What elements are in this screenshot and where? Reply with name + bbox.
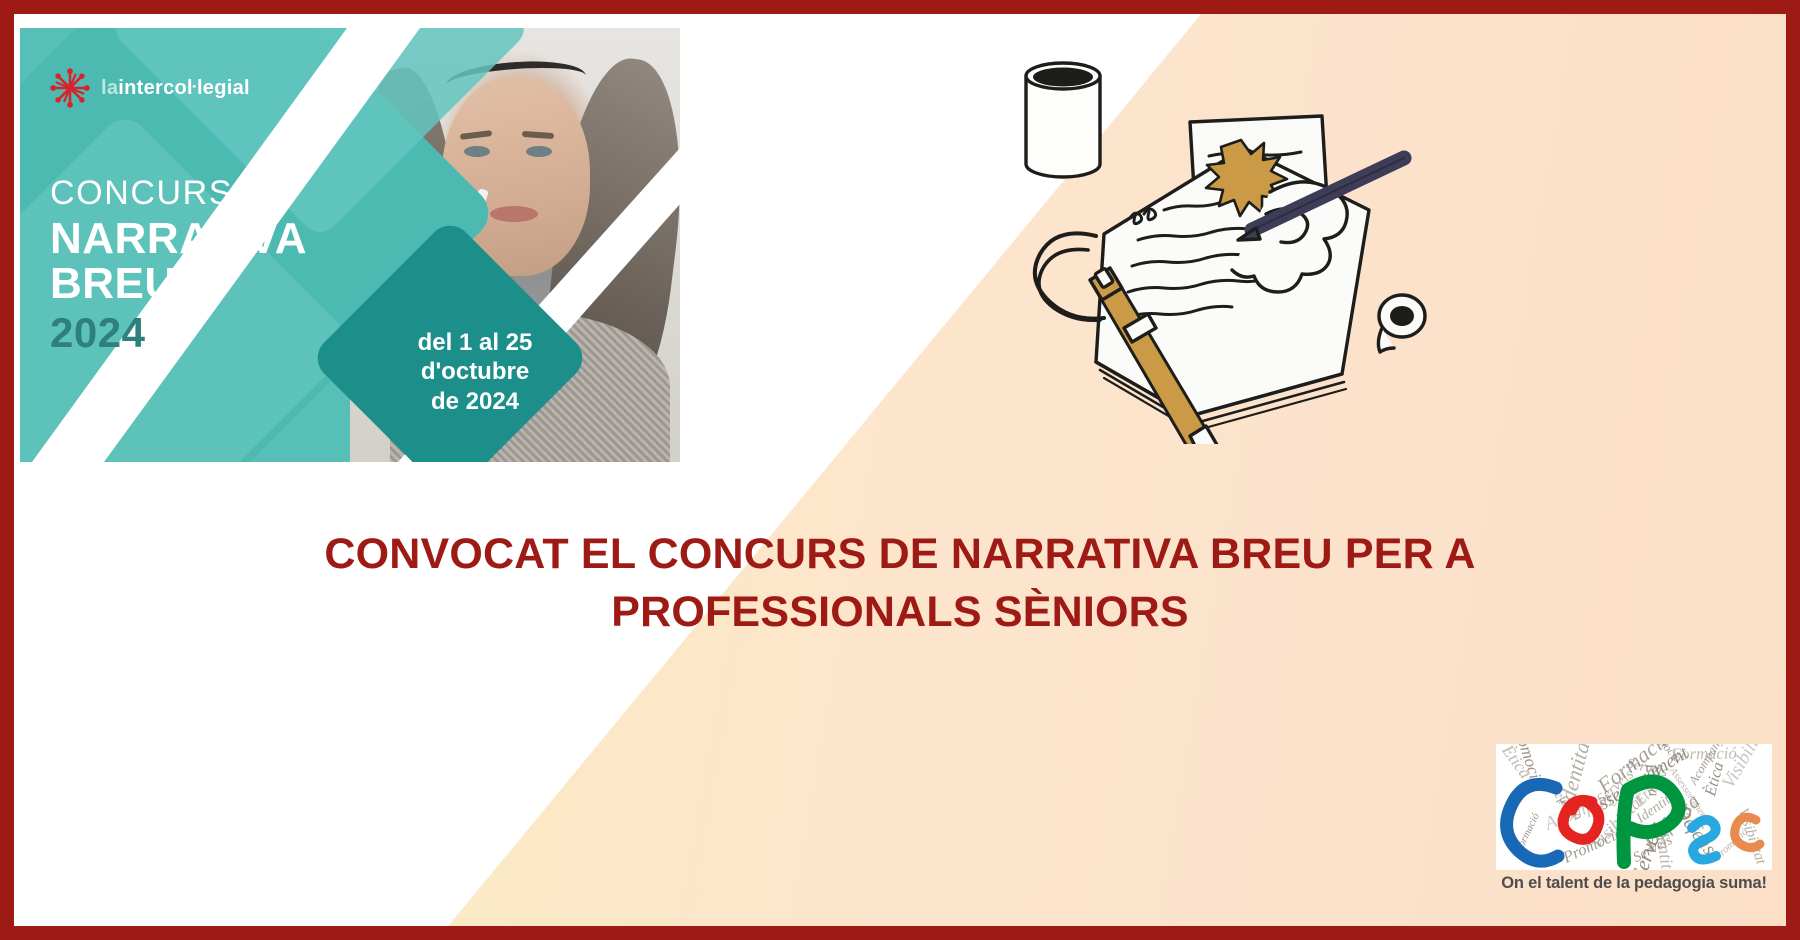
poster-date-text: del 1 al 25 d'octubre de 2024 bbox=[380, 328, 570, 416]
poster-year: 2024 bbox=[50, 309, 307, 357]
poster-heading-line3: BREU bbox=[50, 261, 307, 307]
copec-letters bbox=[1496, 744, 1772, 870]
logo-prefix: la bbox=[101, 77, 118, 99]
eye-left bbox=[464, 146, 490, 157]
copec-tagline: On el talent de la pedagogia suma! bbox=[1496, 874, 1772, 893]
coffee-mug-icon bbox=[1026, 63, 1100, 177]
headline-line-1: CONVOCAT EL CONCURS DE NARRATIVA BREU PE… bbox=[124, 526, 1676, 584]
date-line3: de 2024 bbox=[380, 387, 570, 416]
contest-poster-image: laintercoŀlegial CONCURS DE NARRATIVA BR… bbox=[20, 28, 680, 462]
intercollegial-logo: laintercoŀlegial bbox=[50, 68, 250, 108]
logo-word-main: intercoŀlegial bbox=[118, 77, 250, 99]
intercollegial-logo-text: laintercoŀlegial bbox=[101, 77, 250, 100]
copec-wordcloud: ÈticaServeisIdentitatPromocióFormacióVis… bbox=[1496, 744, 1772, 870]
lips bbox=[490, 206, 538, 222]
eye-right bbox=[526, 146, 552, 157]
slide-canvas: laintercoŀlegial CONCURS DE NARRATIVA BR… bbox=[0, 0, 1800, 940]
red-asterisk-icon bbox=[50, 68, 90, 108]
headline-line-2: PROFESSIONALS SÈNIORS bbox=[124, 584, 1676, 642]
date-line1: del 1 al 25 bbox=[380, 328, 570, 357]
date-line2: d'octubre bbox=[380, 357, 570, 386]
writing-desk-illustration bbox=[1004, 44, 1474, 444]
poster-heading-line2: NARRATIVA bbox=[50, 216, 307, 262]
poster-heading-line1: CONCURS DE bbox=[50, 176, 307, 212]
page-title: CONVOCAT EL CONCURS DE NARRATIVA BREU PE… bbox=[14, 526, 1786, 641]
copec-logo: ÈticaServeisIdentitatPromocióFormacióVis… bbox=[1496, 744, 1772, 904]
writing-desk-svg bbox=[1004, 44, 1474, 444]
poster-headings: CONCURS DE NARRATIVA BREU 2024 bbox=[50, 176, 307, 357]
washi-tape-roll-icon bbox=[1378, 295, 1425, 352]
